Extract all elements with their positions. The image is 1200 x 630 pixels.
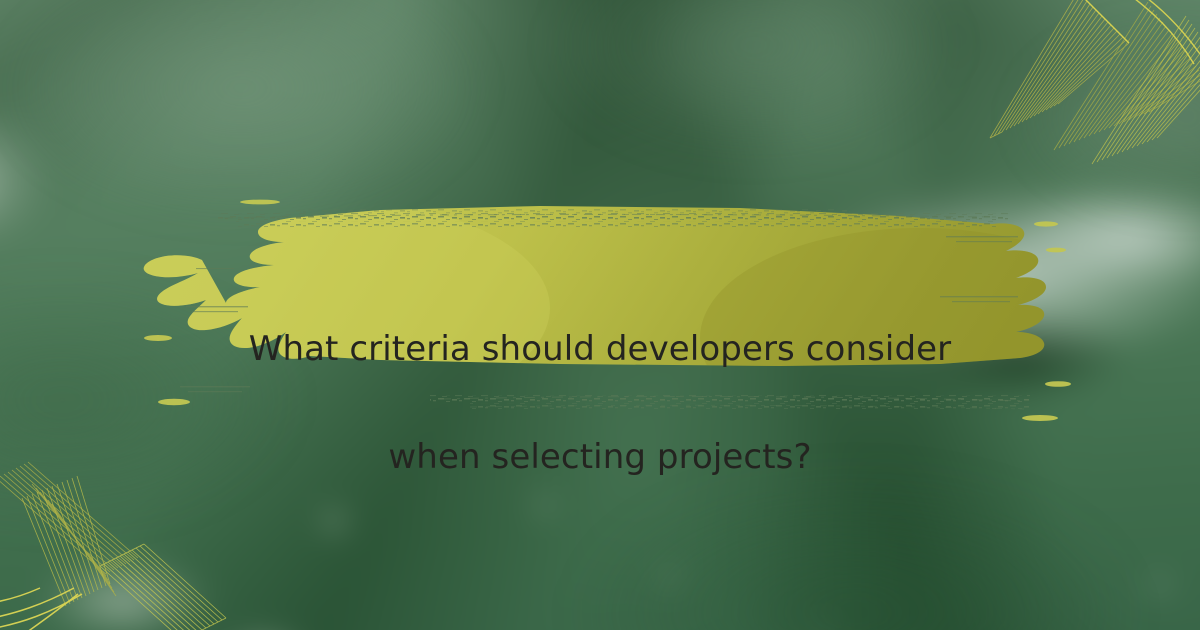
quote-line-2: when selecting projects? <box>0 430 1200 484</box>
quote-card: What criteria should developers consider… <box>0 0 1200 630</box>
quote-text: What criteria should developers consider… <box>0 268 1200 538</box>
quote-line-1: What criteria should developers consider <box>0 322 1200 376</box>
brush-texture-top <box>218 208 1008 227</box>
